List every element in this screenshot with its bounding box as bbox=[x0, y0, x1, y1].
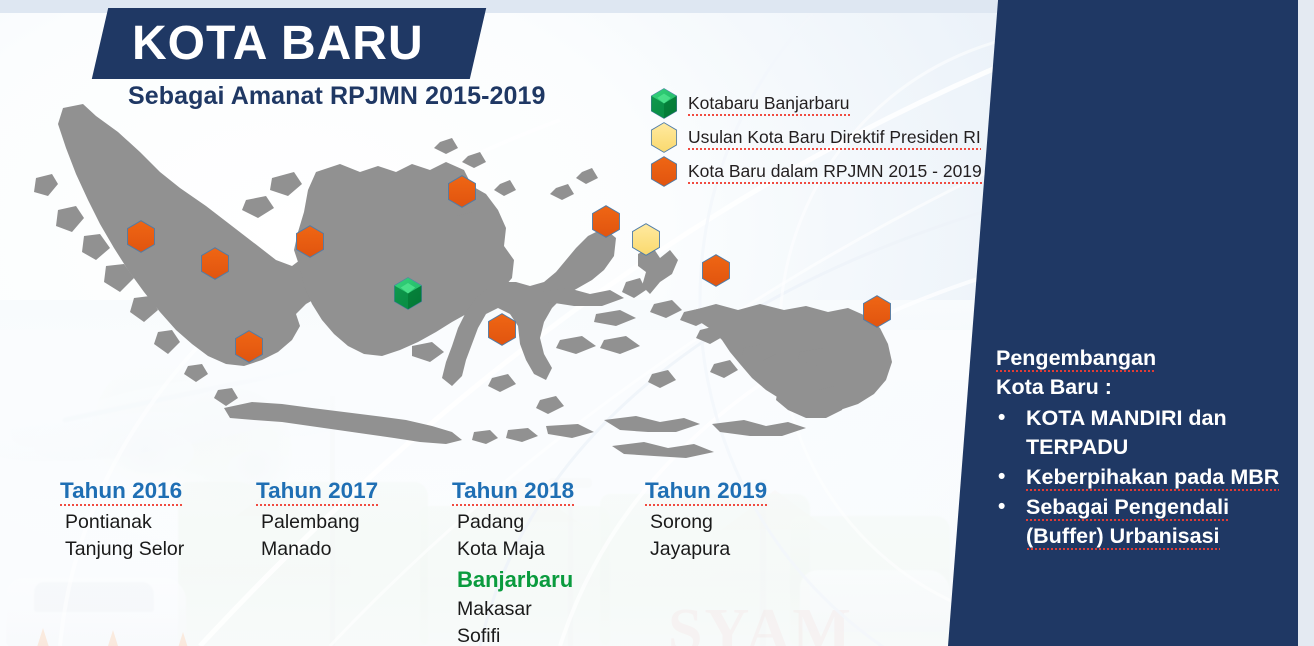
legend-item-0: Kotabaru Banjarbaru bbox=[650, 86, 982, 120]
legend-item-label: Usulan Kota Baru Direktif Presiden RI bbox=[688, 127, 981, 148]
marker-makasar-icon[interactable] bbox=[487, 313, 517, 346]
panel-bullet-list: KOTA MANDIRI dan TERPADUKeberpihakan pad… bbox=[996, 404, 1296, 551]
legend-item-label: Kotabaru Banjarbaru bbox=[688, 93, 850, 114]
panel-content: Pengembangan Kota Baru : KOTA MANDIRI da… bbox=[996, 344, 1296, 551]
year-city: Padang bbox=[452, 509, 574, 536]
marker-jakarta-kota-maja-icon[interactable] bbox=[234, 330, 264, 363]
hexagon-yellow-icon bbox=[650, 122, 678, 153]
hexagon-orange-icon bbox=[650, 156, 678, 187]
year-heading: Tahun 2017 bbox=[256, 478, 378, 504]
year-heading: Tahun 2019 bbox=[645, 478, 767, 504]
legend-item-label: Kota Baru dalam RPJMN 2015 - 2019 bbox=[688, 161, 982, 182]
panel-bullet-0: KOTA MANDIRI dan TERPADU bbox=[996, 404, 1296, 462]
year-column-1: Tahun 2017PalembangManado bbox=[256, 478, 378, 563]
slide-root: SYAM bbox=[0, 0, 1314, 646]
panel-bullet-2: Sebagai Pengendali (Buffer) Urbanisasi bbox=[996, 493, 1296, 551]
page-title: KOTA BARU bbox=[132, 14, 492, 76]
panel-heading-line2: Kota Baru : bbox=[996, 373, 1296, 402]
year-column-2: Tahun 2018PadangKota MajaBanjarbaruMakas… bbox=[452, 478, 574, 646]
right-decor-strip bbox=[1298, 0, 1314, 646]
year-columns: Tahun 2016PontianakTanjung SelorTahun 20… bbox=[0, 478, 960, 646]
year-heading: Tahun 2016 bbox=[60, 478, 184, 504]
marker-jayapura-icon[interactable] bbox=[862, 295, 892, 328]
page-subtitle: Sebagai Amanat RPJMN 2015-2019 bbox=[128, 82, 546, 111]
legend-item-2: Kota Baru dalam RPJMN 2015 - 2019 bbox=[650, 154, 982, 188]
marker-pontianak-icon[interactable] bbox=[295, 225, 325, 258]
year-city: Pontianak bbox=[60, 509, 184, 536]
marker-manado-icon[interactable] bbox=[591, 205, 621, 238]
marker-palembang-icon[interactable] bbox=[200, 247, 230, 280]
marker-medan-icon[interactable] bbox=[126, 220, 156, 253]
marker-sorong-icon[interactable] bbox=[701, 254, 731, 287]
year-city: Makasar bbox=[452, 596, 574, 623]
year-city: Kota Maja bbox=[452, 536, 574, 563]
marker-tanjung-selor-icon[interactable] bbox=[447, 175, 477, 208]
panel-bullet-1: Keberpihakan pada MBR bbox=[996, 463, 1296, 492]
year-city: Sofifi bbox=[452, 623, 574, 646]
year-city: Tanjung Selor bbox=[60, 536, 184, 563]
year-heading: Tahun 2018 bbox=[452, 478, 574, 504]
marker-banjarbaru-icon[interactable] bbox=[393, 277, 423, 310]
panel-heading-line1: Pengembangan bbox=[996, 344, 1296, 373]
year-city: Jayapura bbox=[645, 536, 767, 563]
year-city-highlighted: Banjarbaru bbox=[452, 563, 574, 596]
legend-item-1: Usulan Kota Baru Direktif Presiden RI bbox=[650, 120, 982, 154]
year-city: Manado bbox=[256, 536, 378, 563]
year-column-3: Tahun 2019SorongJayapura bbox=[645, 478, 767, 563]
marker-sofifi-icon[interactable] bbox=[631, 223, 661, 256]
year-city: Sorong bbox=[645, 509, 767, 536]
year-city: Palembang bbox=[256, 509, 378, 536]
map-legend: Kotabaru Banjarbaru Usulan Kota Baru Dir… bbox=[650, 86, 982, 188]
hexagon-green-icon bbox=[650, 88, 678, 119]
year-column-0: Tahun 2016PontianakTanjung Selor bbox=[60, 478, 184, 563]
